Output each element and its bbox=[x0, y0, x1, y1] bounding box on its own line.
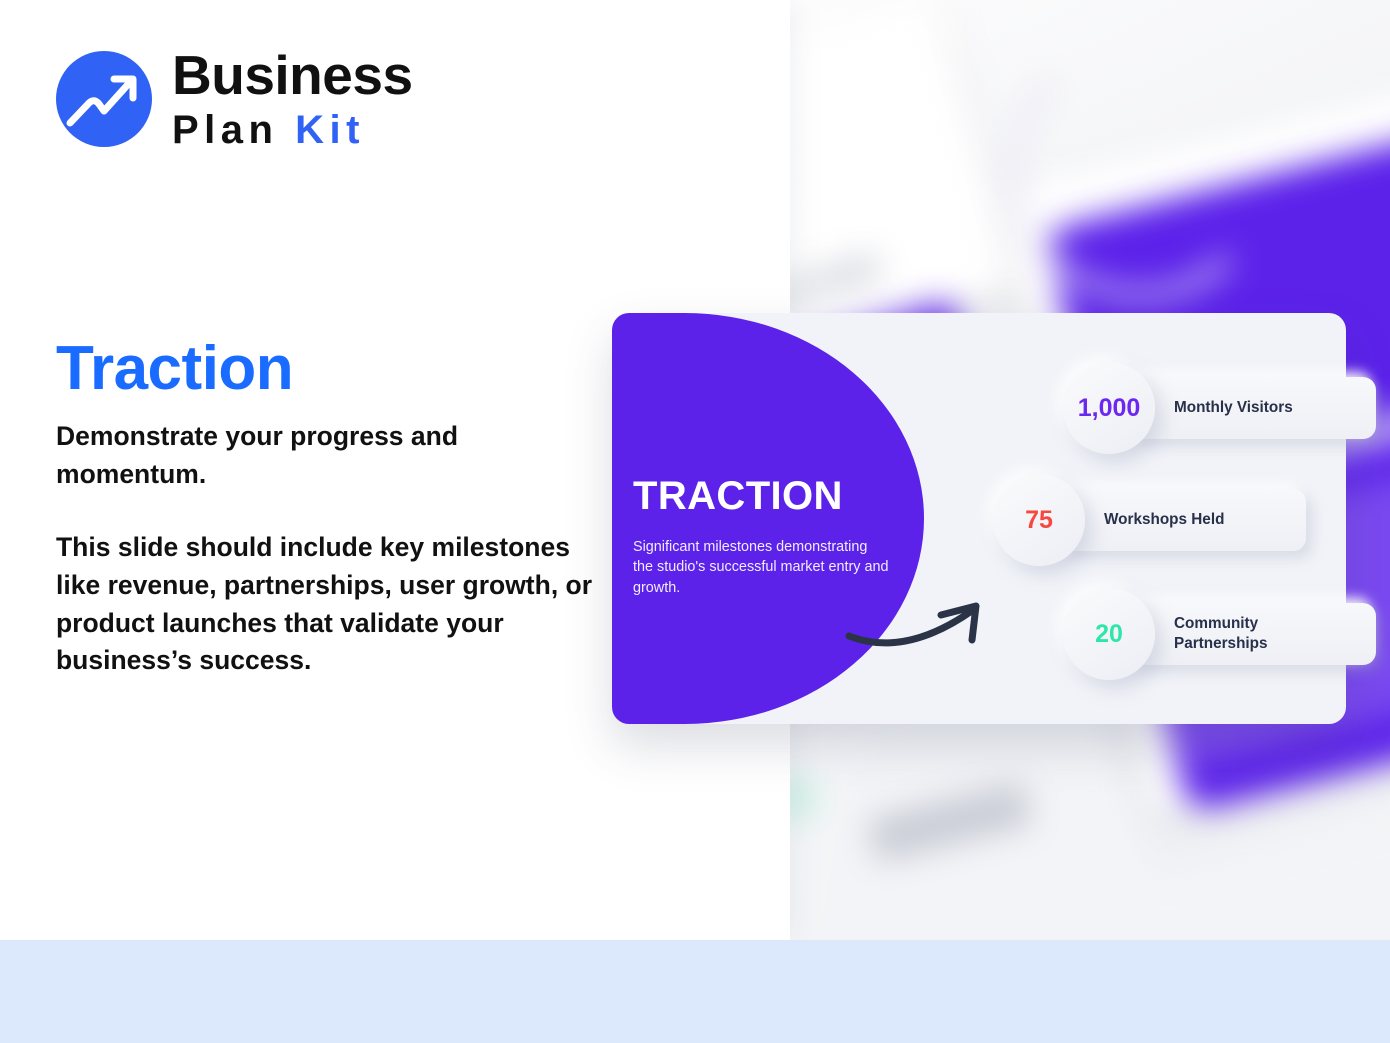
stat-label: Monthly Visitors bbox=[1174, 398, 1293, 418]
preview-card-subtext: Significant milestones demonstrating the… bbox=[633, 537, 891, 598]
growth-chart-circle-icon bbox=[56, 51, 152, 147]
stat-label: Community Partnerships bbox=[1174, 614, 1294, 653]
purple-blob-shape bbox=[612, 313, 924, 724]
stat-bubble-workshops-held[interactable]: 75 bbox=[993, 474, 1085, 566]
bg-decorative-ring bbox=[1010, 40, 1270, 300]
body-paragraph-2: This slide should include key milestones… bbox=[56, 529, 596, 680]
preview-card-heading: TRACTION bbox=[633, 476, 843, 516]
page-title: Traction bbox=[56, 338, 293, 400]
stat-pill-workshops-held[interactable]: Workshops Held bbox=[1060, 489, 1306, 551]
stat-bubble-monthly-visitors[interactable]: 1,000 bbox=[1063, 362, 1155, 454]
stat-pill-monthly-visitors[interactable]: Monthly Visitors bbox=[1130, 377, 1376, 439]
stat-pill-community-partnerships[interactable]: Community Partnerships bbox=[1130, 603, 1376, 665]
curved-up-arrow-icon bbox=[845, 592, 1015, 654]
stat-value: 75 bbox=[1025, 508, 1053, 533]
brand-name-plan: Plan bbox=[172, 108, 278, 152]
brand-name-business: Business bbox=[172, 48, 413, 103]
brand-name-plan-kit: Plan Kit bbox=[172, 110, 413, 150]
stat-bubble-community-partnerships[interactable]: 20 bbox=[1063, 588, 1155, 680]
bottom-color-band bbox=[0, 940, 1390, 1043]
page-body-copy: Demonstrate your progress and momentum. … bbox=[56, 418, 596, 680]
stat-label: Workshops Held bbox=[1104, 510, 1224, 530]
brand-name-kit: Kit bbox=[295, 108, 365, 152]
brand-logo: Business Plan Kit bbox=[56, 48, 413, 150]
slide-canvas: Business Plan Kit Traction Demonstrate y… bbox=[0, 0, 1390, 1043]
stat-value: 20 bbox=[1095, 622, 1123, 647]
brand-wordmark: Business Plan Kit bbox=[172, 48, 413, 150]
stat-value: 1,000 bbox=[1078, 396, 1141, 421]
body-paragraph-1: Demonstrate your progress and momentum. bbox=[56, 418, 596, 493]
